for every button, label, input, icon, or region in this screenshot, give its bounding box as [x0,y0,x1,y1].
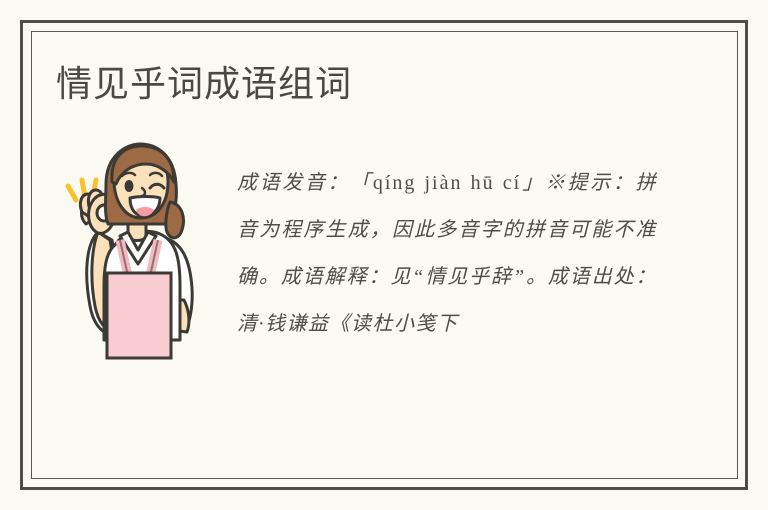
quote-open: 「 [350,172,373,194]
pronunciation-label: 成语发音： [237,172,350,194]
eye-open [125,180,134,192]
winking-woman-ok-gesture-illustration [60,140,210,360]
page-root: 情见乎词成语组词 [0,0,768,510]
explanation-text: 见“情见乎辞”。 [390,266,548,288]
page-title: 情见乎词成语组词 [56,62,352,106]
quote-close: 」 [521,172,545,194]
explanation-label: 成语解释： [281,266,391,288]
entry-body-text: 成语发音：「qíng jiàn hū cí」※提示：拼音为程序生成，因此多音字的… [237,160,657,348]
pinyin-value: qíng jiàn hū cí [373,172,521,194]
source-label: 成语出处： [548,266,657,288]
note-label: 提示： [568,172,636,194]
source-text: 清·钱谦益《读杜小笺下 [237,313,459,335]
content-area: 成语发音：「qíng jiàn hū cí」※提示：拼音为程序生成，因此多音字的… [56,136,676,386]
note-mark-icon: ※ [545,172,568,194]
